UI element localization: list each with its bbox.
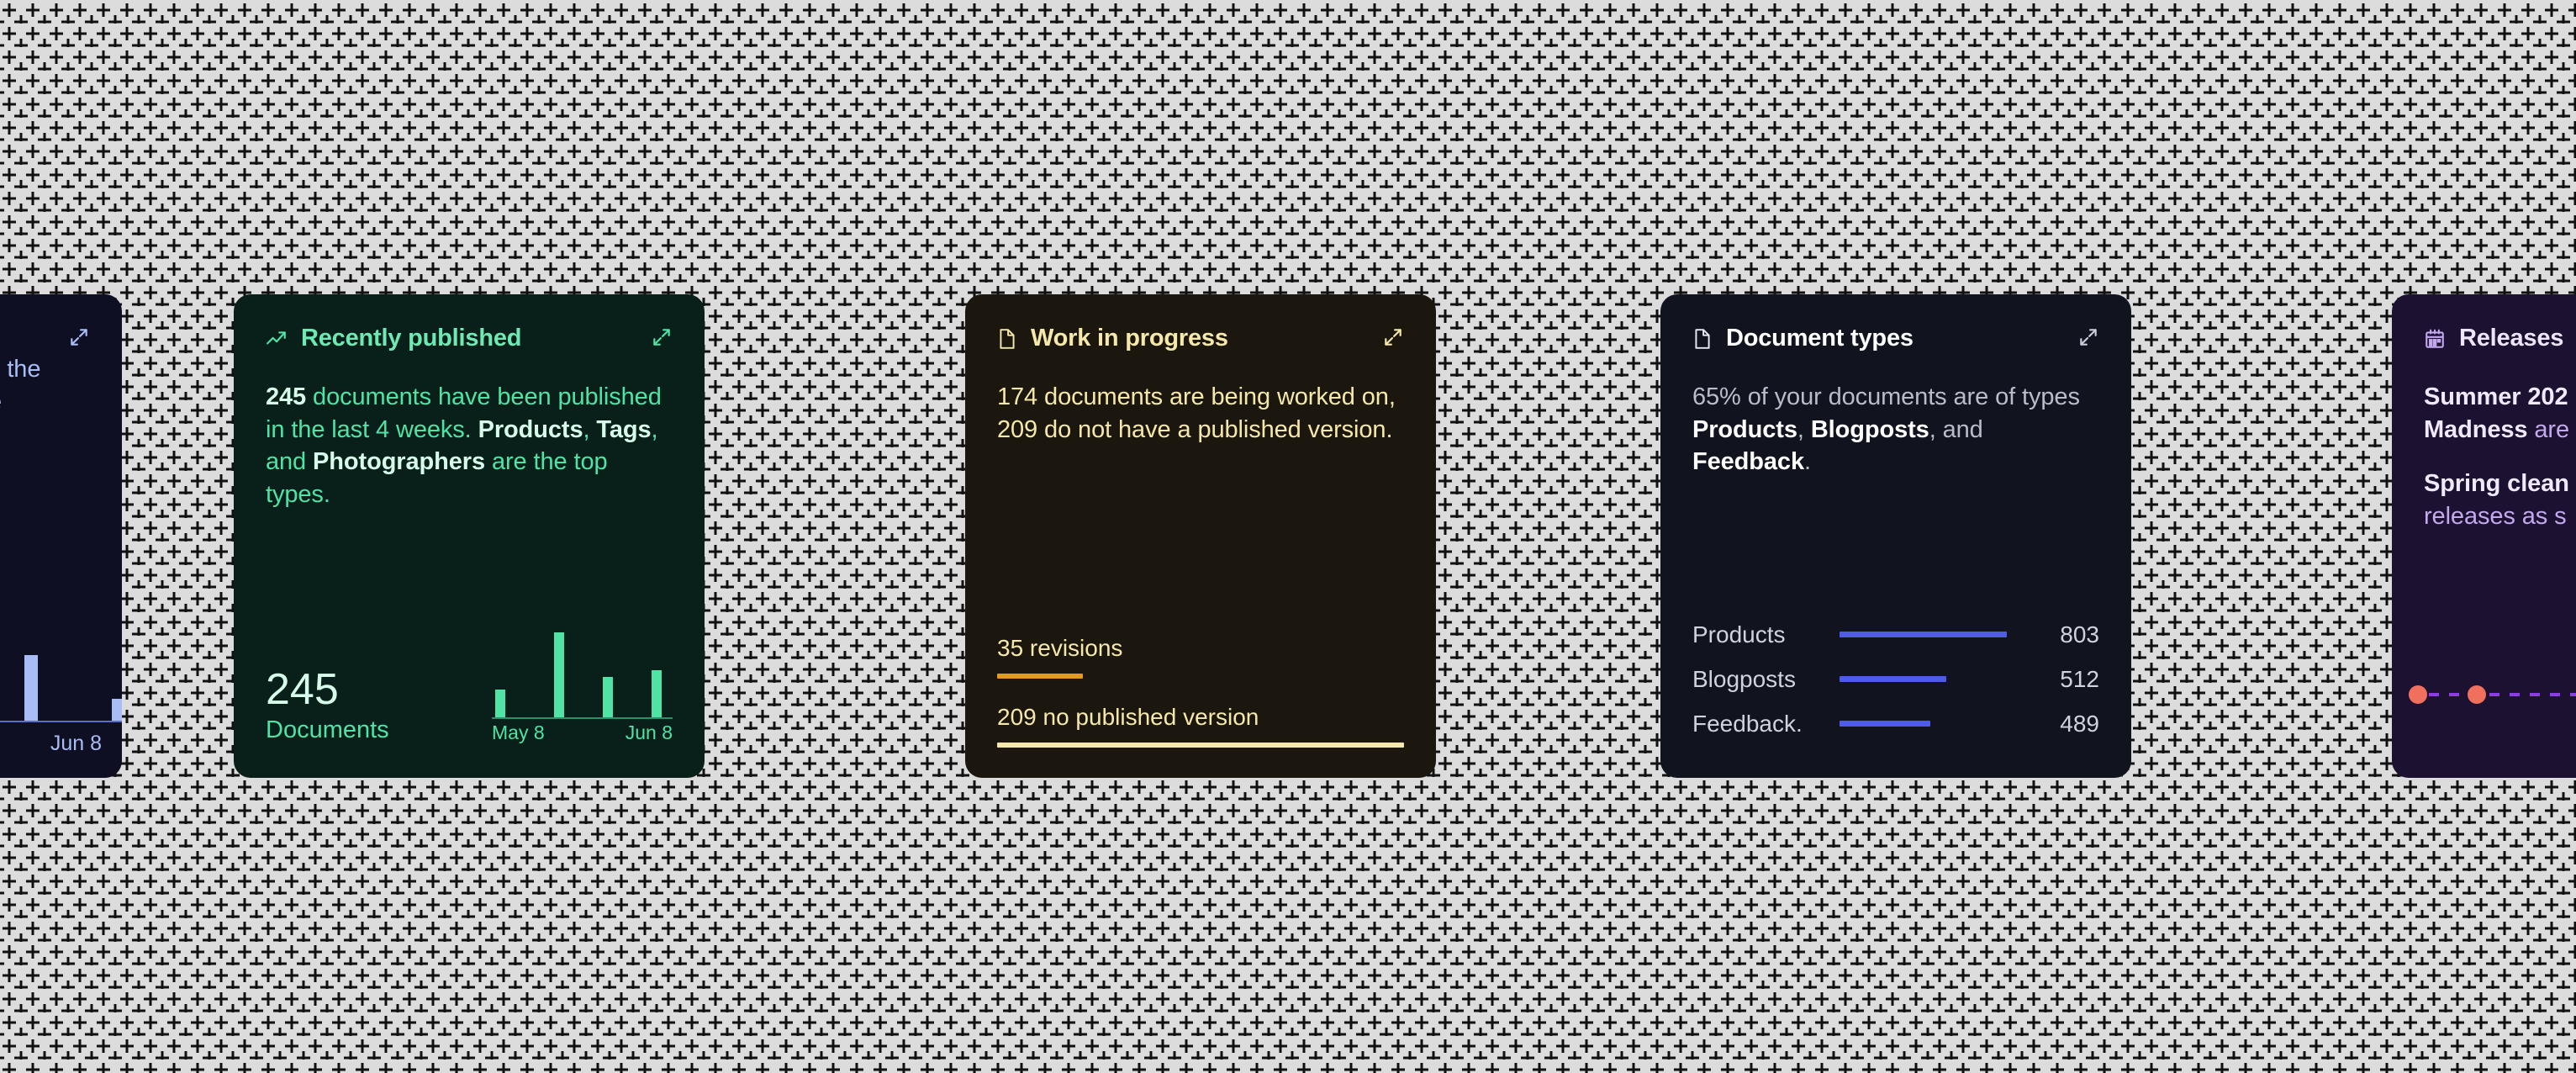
body-segment-6: Photographers [313,448,485,475]
type-name: Feedback. [1692,711,1840,737]
expand-arrows-icon[interactable] [1382,326,1404,348]
card-header: Work in progress [997,325,1404,352]
card-header: Document types [1692,325,2099,352]
chart-x-tick-left: May 8 [492,721,545,744]
expand-arrows-icon[interactable] [651,326,673,348]
table-row: Blogposts 512 [1692,657,2099,701]
card-footer: 245 Documents May 8 Jun 8 [266,631,673,744]
chart-bar [112,699,122,721]
chart-x-label: Jun 8 [50,732,102,756]
recently-published-card[interactable]: Recently published 245 documents have be… [234,294,705,778]
timeline-dot[interactable] [2468,685,2486,704]
work-in-progress-card[interactable]: Work in progress 174 documents are being… [965,294,1436,778]
chart-x-tick-right: Jun 8 [626,721,673,744]
release-timeline [2409,685,2576,704]
calendar-icon [2424,328,2446,350]
card-body-line-2: n the [0,386,90,419]
release-line-3: Spring clean [2424,468,2576,500]
type-value: 512 [2007,666,2099,693]
bar-fill [1840,721,1930,727]
table-row: Feedback. 489 [1692,701,2099,746]
release-line-2-bold: Madness [2424,416,2534,443]
card-body: 65% of your documents are of types Produ… [1692,381,2099,478]
body-segment-1: Products [1692,416,1797,443]
chart-bar [603,677,613,717]
document-icon [1692,328,1713,350]
card-body: 245 documents have been published in the… [266,381,673,510]
expand-arrows-icon[interactable] [2077,326,2099,348]
card-header: Recently published [266,325,673,352]
body-segment-5: Feedback [1692,448,1804,475]
chart-row-bar [997,674,1083,679]
body-segment-0: 245 [266,383,313,410]
body-segment-3: Blogposts [1811,416,1929,443]
stat-value: 245 [266,667,389,713]
bar-chart: May 8 Jun 8 [492,631,673,744]
card-title: Recently published [301,325,521,352]
bar-track [1840,632,2007,637]
bar-chart [0,596,122,722]
type-value: 803 [2007,621,2099,648]
horizontal-bar-chart: Products 803 Blogposts 512 Feedback. 489 [1692,612,2099,746]
card-body: 174 documents are being worked on, 209 d… [997,381,1404,446]
chart-row: 35 revisions [997,635,1404,679]
timeline-dot[interactable] [2409,685,2427,704]
type-name: Products [1692,621,1840,648]
body-segment-4: Tags [596,416,651,443]
table-row: Products 803 [1692,612,2099,657]
chart-row-label: 35 revisions [997,635,1404,662]
card-title: Work in progress [1031,325,1228,352]
expand-arrows-icon[interactable] [68,326,90,348]
chart-row-label: 209 no published version [997,704,1404,731]
release-line-1: Summer 202 [2424,381,2576,414]
chart-row-bar [997,743,1404,748]
chart-bar [652,670,662,717]
release-para-1: Summer 202 Madness are [2424,381,2576,446]
release-line-4: releases as s [2424,500,2576,533]
type-name: Blogposts [1692,666,1840,693]
document-icon [997,328,1017,350]
card-body-line-1: ed in the [0,353,90,386]
stat-block: 245 Documents [266,667,389,744]
release-line-2-rest: are [2534,416,2569,443]
horizontal-bar-chart: 35 revisions 209 no published version [997,635,1404,748]
body-segment-2: , [1797,416,1811,443]
document-types-card[interactable]: Document types 65% of your documents are… [1660,294,2131,778]
card-body: Summer 202 Madness are Spring clean rele… [2424,381,2576,532]
release-para-2: Spring clean releases as s [2424,468,2576,532]
card-header: Releases [2424,325,2576,352]
type-value: 489 [2007,711,2099,737]
chart-axis [0,721,122,722]
release-line-2: Madness are [2424,414,2576,447]
stat-label: Documents [266,716,389,744]
chart-bar [24,655,38,721]
card-title: Releases [2459,325,2563,352]
chart-axis [492,717,673,719]
body-segment-3: , [583,416,596,443]
card-title: Document types [1726,325,1914,352]
card-body: ed in the n the [0,353,90,418]
partial-left-card[interactable]: ed in the n the Jun 8 [0,294,122,778]
body-segment-4: , and [1929,416,1983,443]
card-body-line-1: 174 documents are being worked on, [997,381,1404,414]
body-segment-0: 65% of your documents are of types [1692,383,2080,410]
chart-bar [554,632,564,717]
body-segment-2: Products [478,416,583,443]
card-body-line-2: 209 do not have a published version. [997,414,1404,447]
bar-track [1840,676,2007,682]
bar-fill [1840,632,2007,637]
trending-up-icon [266,328,288,350]
chart-row: 209 no published version [997,704,1404,748]
body-segment-6: . [1804,448,1811,475]
releases-card[interactable]: Releases Summer 202 Madness are Spring c… [2392,294,2576,778]
bar-track [1840,721,2007,727]
bar-fill [1840,676,1946,682]
timeline-line [2409,693,2576,696]
chart-bar [495,690,505,717]
